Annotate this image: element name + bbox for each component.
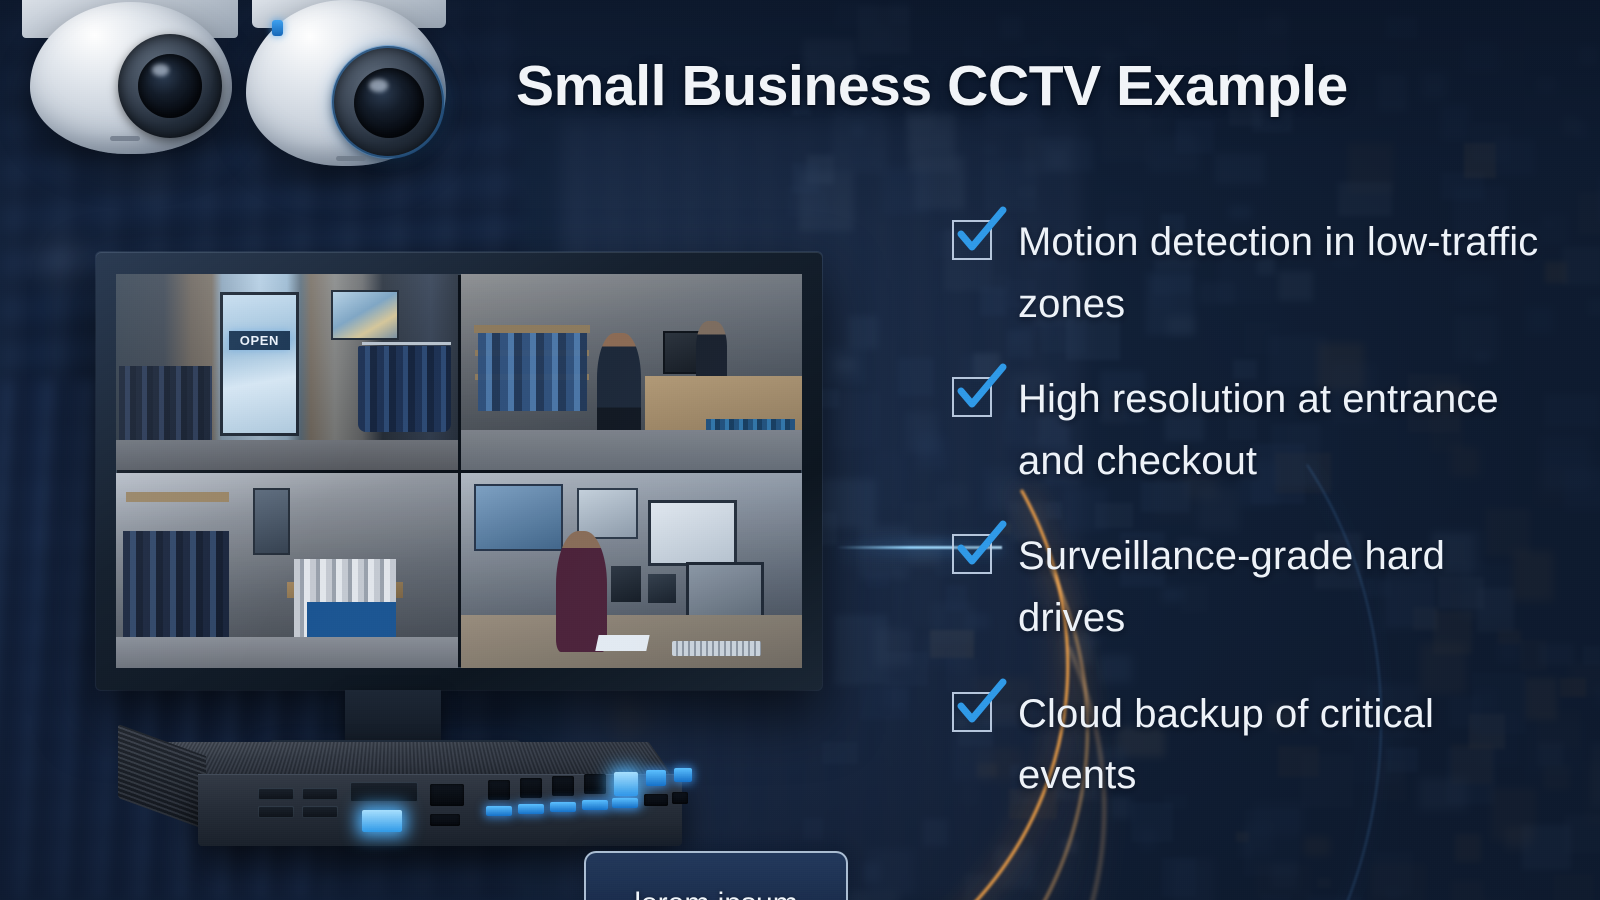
mosaic-block [866,573,890,588]
mosaic-block [822,742,857,764]
checklist-item-high-resolution[interactable]: High resolution at entrance and checkout [952,369,1552,492]
mosaic-block [1495,139,1535,175]
mosaic-block [965,874,998,900]
mosaic-block [1588,299,1600,316]
checkbox-checked-icon[interactable] [952,377,992,417]
mosaic-block [1441,105,1469,139]
mosaic-block [908,113,956,172]
mosaic-block [1129,28,1159,49]
cctv-monitor: OPEN [96,252,822,690]
mosaic-block [1266,117,1281,130]
mosaic-block [858,6,910,55]
mosaic-block [995,847,1034,890]
mosaic-block [898,358,934,396]
feed-storefront-entrance[interactable]: OPEN [116,274,458,470]
mosaic-block [1578,192,1600,235]
checklist-item-label: High resolution at entrance and checkout [1018,369,1552,492]
feed-back-office-pos[interactable] [461,473,803,669]
cctv-quad-view[interactable]: OPEN [116,274,802,668]
mosaic-block [883,167,930,214]
mosaic-block [875,628,912,667]
mosaic-block [1387,890,1400,899]
dome-camera-left [10,0,260,191]
checklist-item-label: Cloud backup of critical events [1018,684,1552,807]
checkbox-checked-icon[interactable] [952,534,992,574]
mosaic-block [1172,859,1214,900]
mosaic-block [1579,46,1598,65]
mosaic-block [1386,17,1417,38]
mosaic-block [1544,394,1600,428]
mosaic-block [840,544,867,569]
page-title: Small Business CCTV Example [516,56,1416,118]
nvr-recorder [112,700,682,875]
mosaic-block [1062,839,1077,853]
mosaic-block [923,819,948,846]
mosaic-block [1560,678,1586,698]
mosaic-block [1595,687,1600,707]
mosaic-block [1583,646,1600,666]
mosaic-block [884,684,907,708]
feed-sales-floor[interactable] [116,473,458,669]
mosaic-block [938,201,953,214]
mosaic-block [1215,153,1265,184]
feature-checklist: Motion detection in low-traffic zones Hi… [952,212,1552,807]
mosaic-block [787,186,827,218]
open-sign-text: OPEN [229,331,290,351]
checkbox-checked-icon[interactable] [952,692,992,732]
mosaic-block [1586,762,1600,823]
mosaic-block [1451,881,1484,900]
mosaic-block [1317,878,1331,888]
mosaic-block [1148,136,1200,172]
mosaic-block [1271,863,1298,890]
checklist-item-label: Surveillance-grade hard drives [1018,526,1552,649]
mosaic-block [860,451,907,508]
mosaic-block [895,569,945,626]
mosaic-block [1563,117,1579,136]
mosaic-block [1553,874,1594,900]
mosaic-block [868,849,914,896]
mosaic-block [803,818,824,841]
bottom-caption-text: lorem ipsum [586,887,846,900]
mosaic-block [994,896,1027,900]
mosaic-block [917,437,948,468]
mosaic-block [1000,17,1023,38]
mosaic-block [1261,894,1291,900]
slide-canvas: Small Business CCTV Example OPEN [0,0,1600,900]
mosaic-block [1465,42,1498,72]
mosaic-block [1307,896,1363,900]
checklist-item-cloud-backup[interactable]: Cloud backup of critical events [952,684,1552,807]
mosaic-block [848,316,878,349]
checklist-item-motion-detection[interactable]: Motion detection in low-traffic zones [952,212,1552,335]
mosaic-block [1564,469,1600,509]
mosaic-block [1031,4,1061,35]
checkbox-checked-icon[interactable] [952,220,992,260]
feed-checkout-counter[interactable] [461,274,803,470]
mosaic-block [1304,837,1330,856]
mosaic-block [1140,830,1156,848]
mosaic-block [1024,138,1073,175]
mosaic-block [984,145,996,154]
mosaic-block [823,348,866,384]
mosaic-block [1236,832,1250,843]
mosaic-block [902,502,946,547]
dome-camera-right [244,0,454,192]
checklist-item-hard-drives[interactable]: Surveillance-grade hard drives [952,526,1552,649]
mosaic-block [1455,834,1482,862]
mosaic-block [1537,78,1556,93]
bottom-caption-panel[interactable]: lorem ipsum [584,851,848,900]
mosaic-block [1562,247,1600,286]
checklist-item-label: Motion detection in low-traffic zones [1018,212,1552,335]
mosaic-block [1422,73,1447,98]
